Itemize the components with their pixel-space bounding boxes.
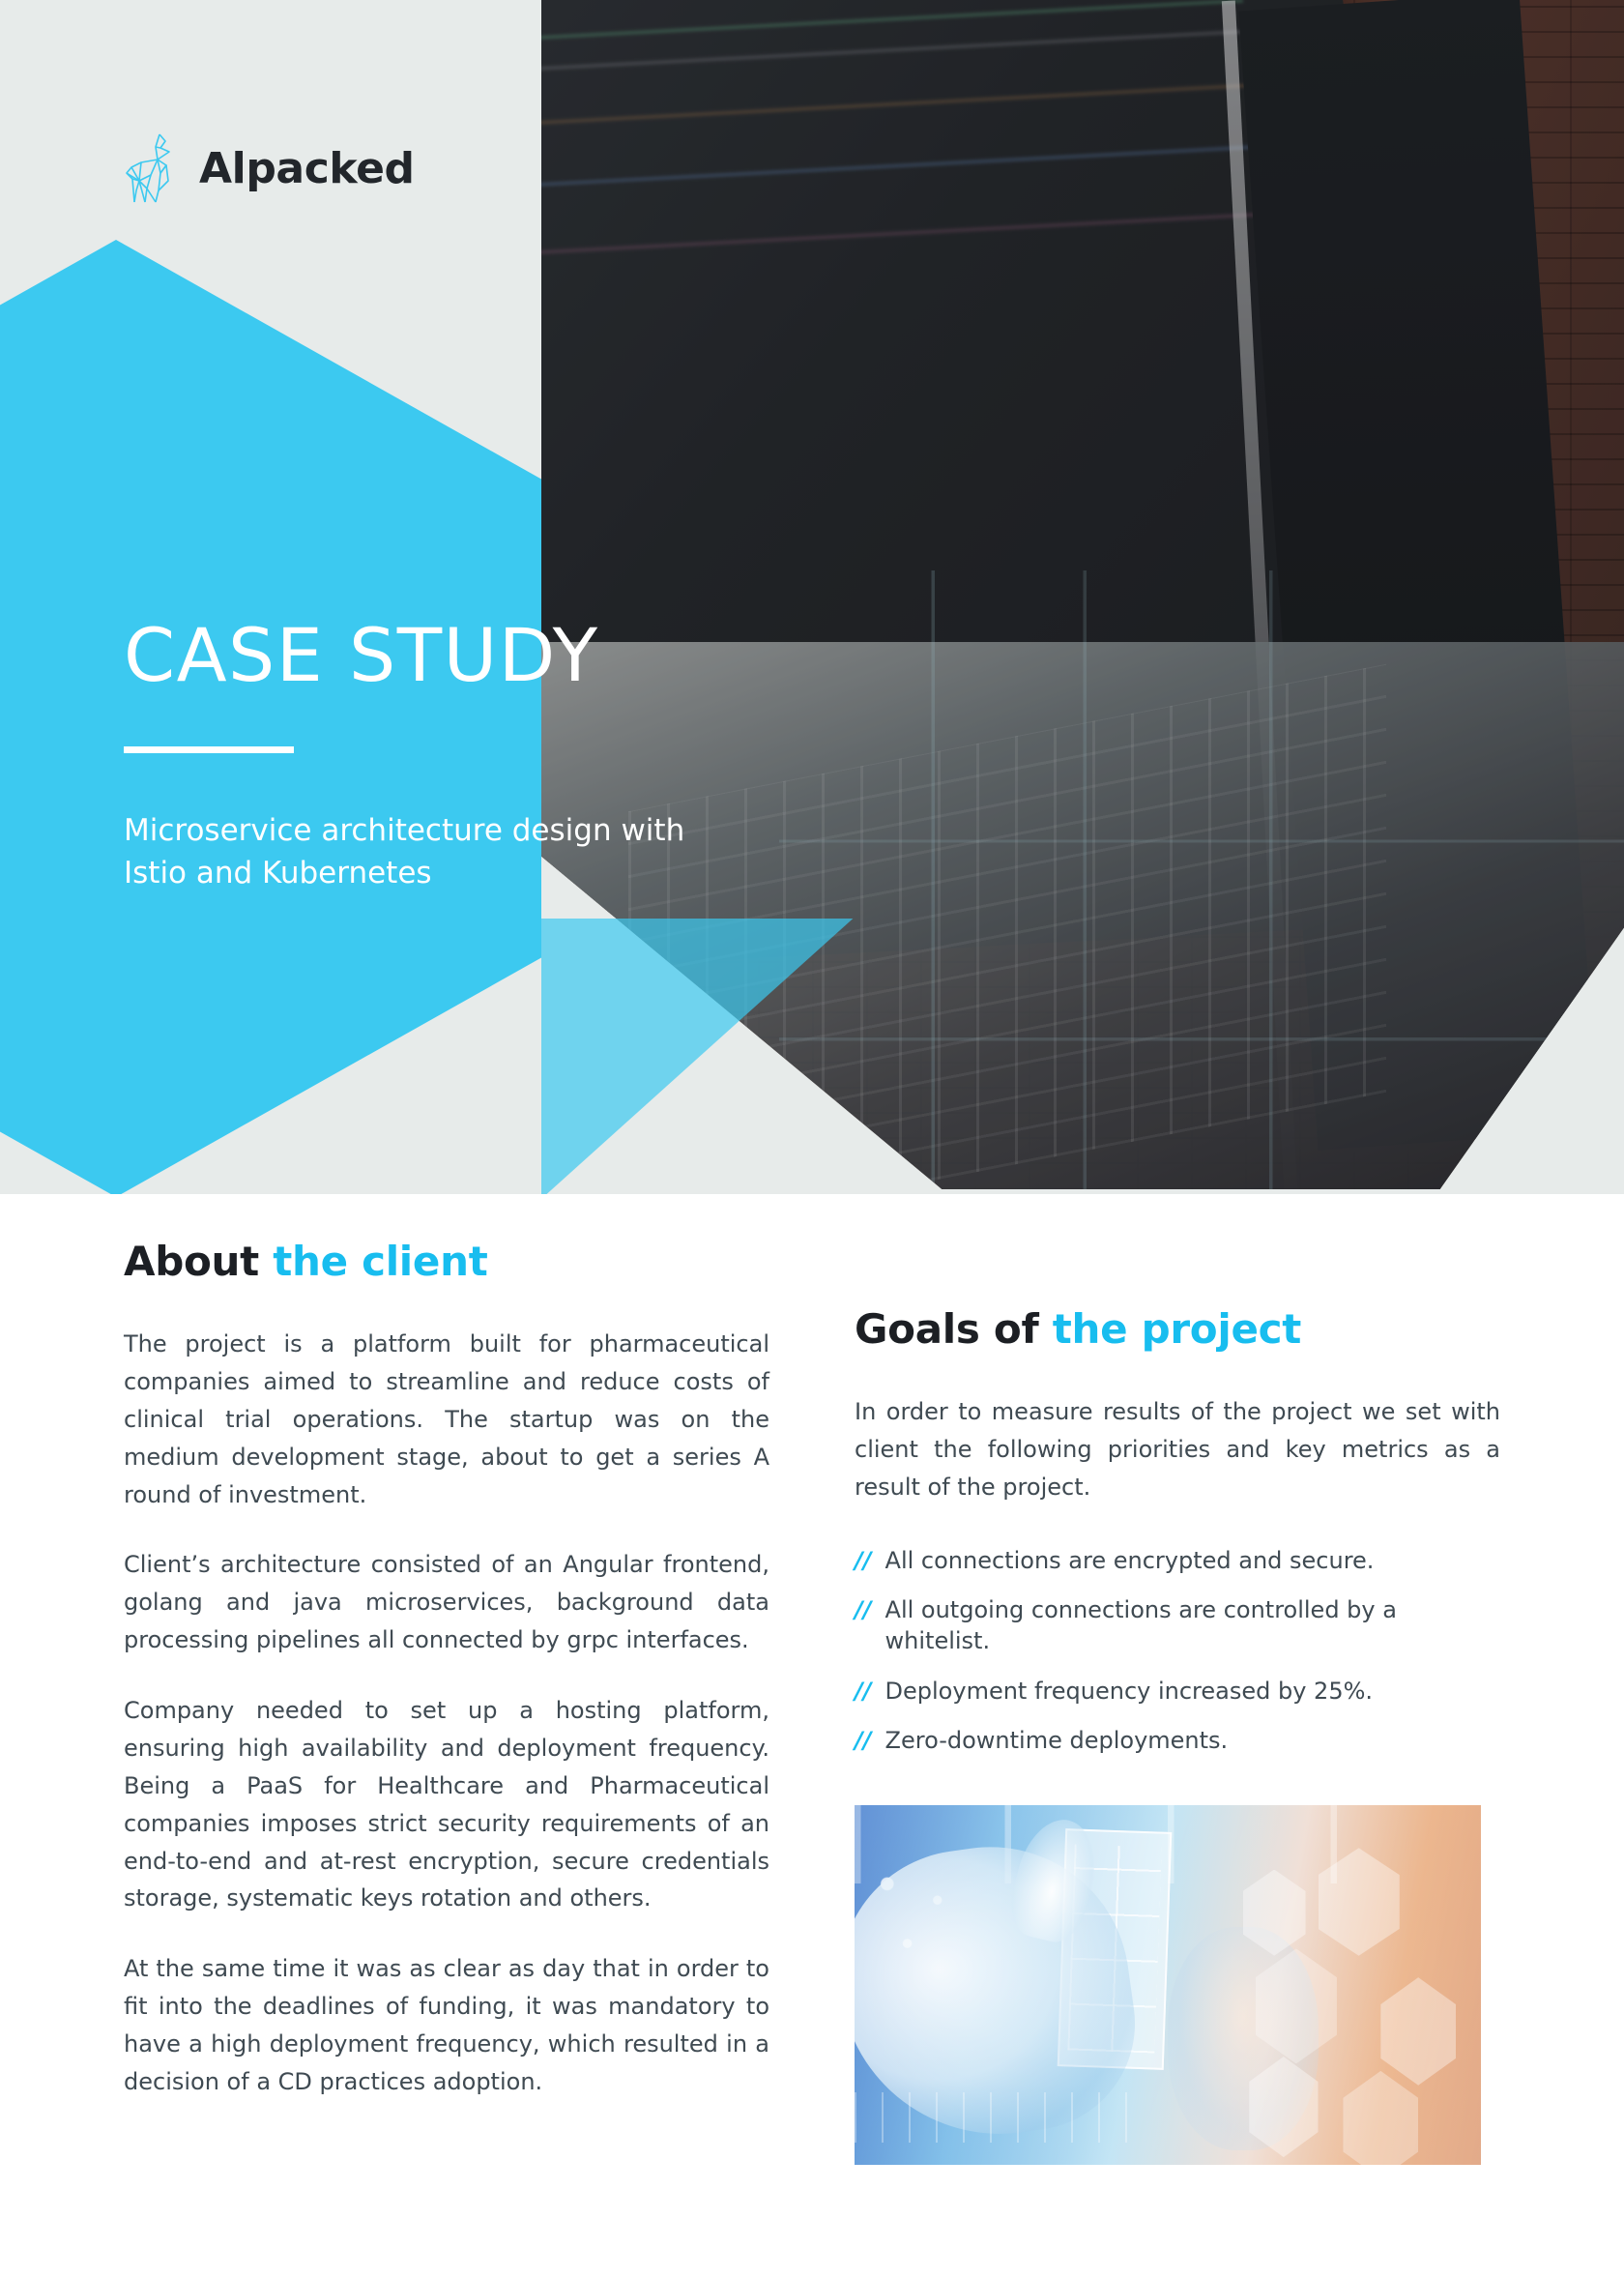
goals-heading-dark: Goals of	[855, 1305, 1038, 1353]
about-paragraph: The project is a platform built for phar…	[124, 1326, 769, 1513]
goal-text: All connections are encrypted and secure…	[885, 1545, 1375, 1576]
about-paragraph: Company needed to set up a hosting platf…	[124, 1692, 769, 1917]
goals-heading-accent: the project	[1053, 1305, 1301, 1353]
bullet-marker-icon: //	[855, 1725, 872, 1756]
hero-divider	[124, 746, 294, 753]
hero-copy: CASE STUDY Microservice architecture des…	[124, 619, 800, 894]
bullet-marker-icon: //	[855, 1594, 872, 1625]
goals-column: Goals of the project In order to measure…	[855, 1194, 1500, 2277]
goals-intro: In order to measure results of the proje…	[855, 1393, 1500, 1506]
bullet-marker-icon: //	[855, 1545, 872, 1576]
brand-name: Alpacked	[199, 144, 415, 193]
brand-logo[interactable]: Alpacked	[124, 131, 415, 206]
about-client-heading-accent: the client	[273, 1238, 487, 1285]
alpaca-line-art-icon	[124, 131, 184, 206]
about-client-heading-dark: About	[124, 1238, 259, 1285]
list-item: // All connections are encrypted and sec…	[855, 1545, 1500, 1576]
hero-subtitle: Microservice architecture design with Is…	[124, 809, 742, 894]
goal-text: Zero-downtime deployments.	[885, 1725, 1229, 1756]
list-item: // Deployment frequency increased by 25%…	[855, 1676, 1500, 1707]
goal-text: Deployment frequency increased by 25%.	[885, 1676, 1374, 1707]
lab-photo	[855, 1805, 1481, 2165]
about-client-heading: About the client	[124, 1238, 769, 1285]
goals-list: // All connections are encrypted and sec…	[855, 1545, 1500, 1757]
goals-heading: Goals of the project	[855, 1305, 1500, 1353]
bullet-marker-icon: //	[855, 1676, 872, 1707]
page-content: About the client The project is a platfo…	[0, 1194, 1624, 2277]
goal-text: All outgoing connections are controlled …	[885, 1594, 1500, 1657]
about-paragraph: Client’s architecture consisted of an An…	[124, 1546, 769, 1659]
hero-title: CASE STUDY	[124, 619, 800, 692]
list-item: // All outgoing connections are controll…	[855, 1594, 1500, 1657]
hero-banner: Alpacked CASE STUDY Microservice archite…	[0, 0, 1624, 1194]
about-paragraph: At the same time it was as clear as day …	[124, 1950, 769, 2101]
about-client-column: About the client The project is a platfo…	[124, 1194, 769, 2277]
lab-photo-wash-layer	[855, 1805, 1481, 2165]
list-item: // Zero-downtime deployments.	[855, 1725, 1500, 1756]
